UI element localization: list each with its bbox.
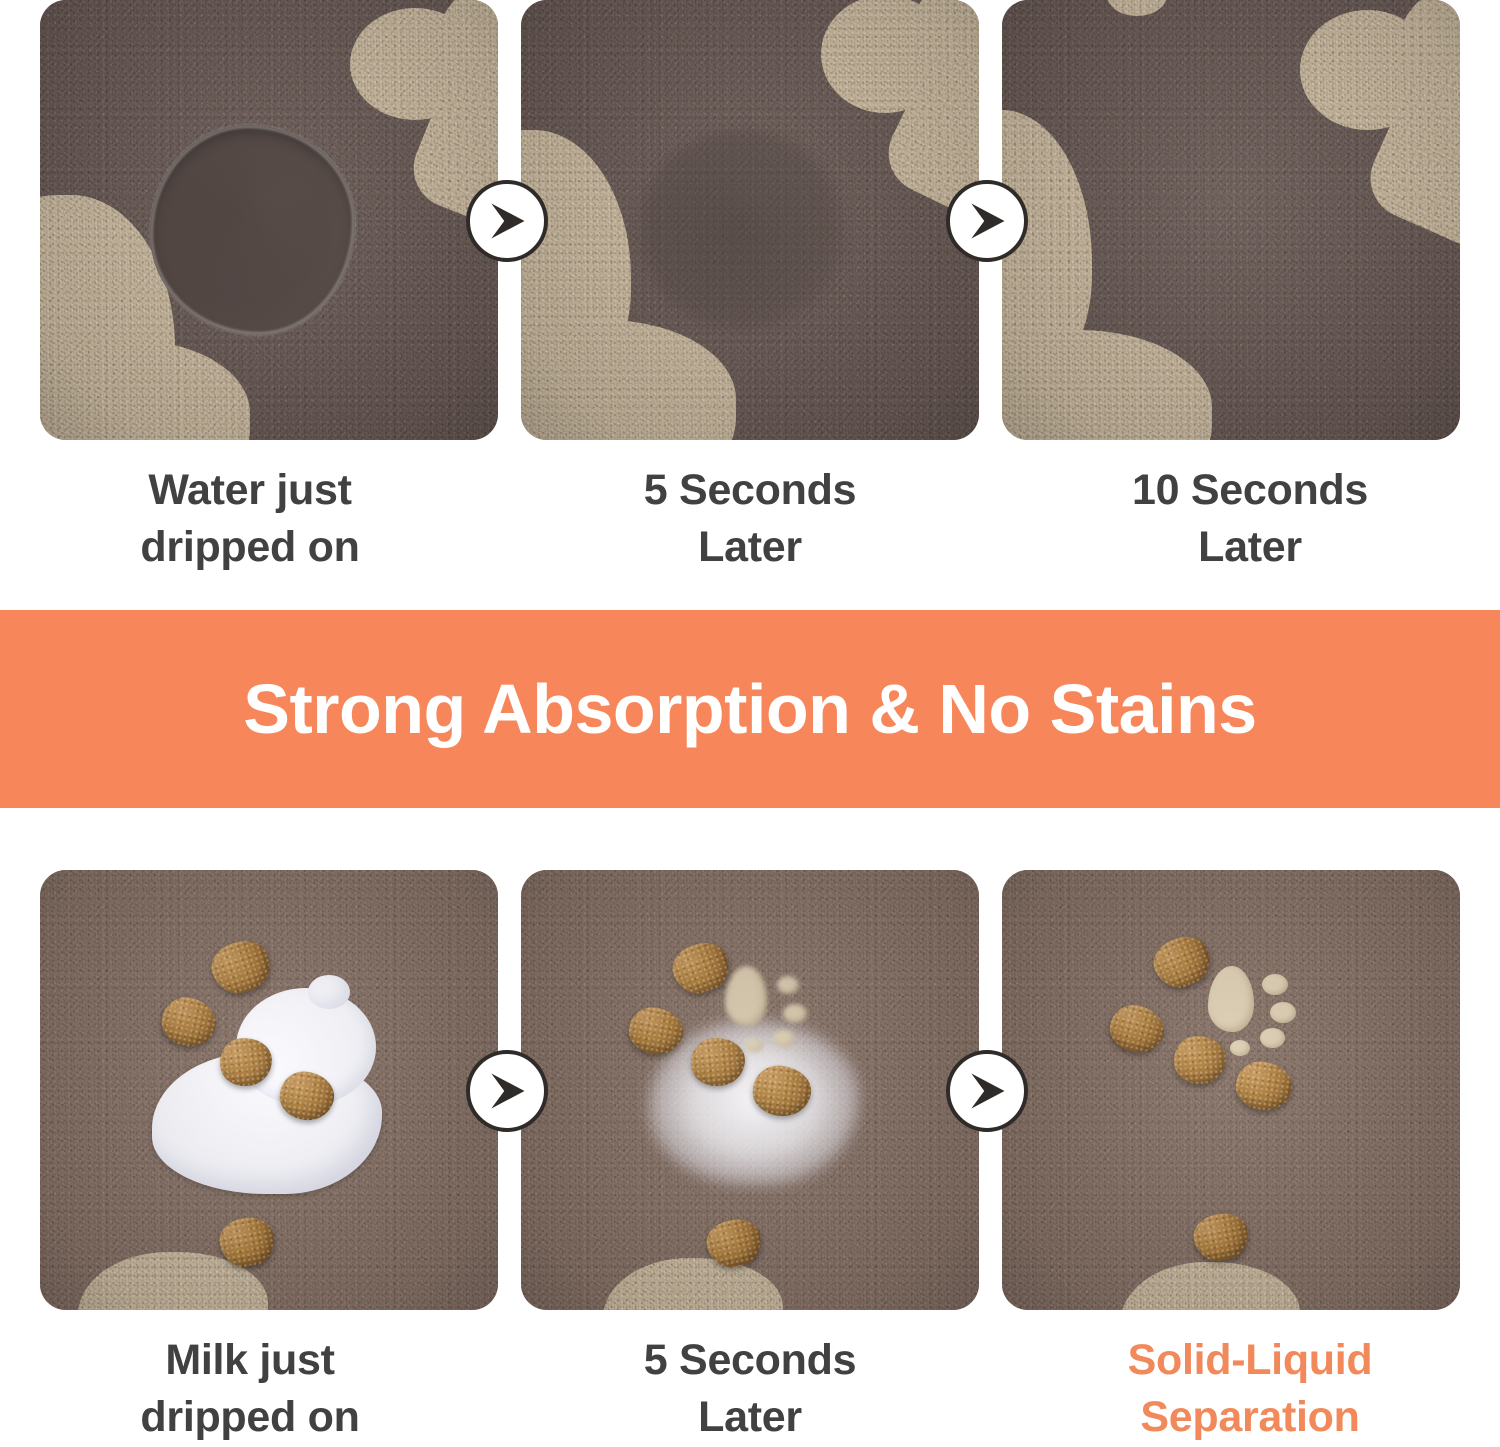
caption-milk-5s: 5 Seconds Later	[500, 1332, 1000, 1446]
caption-water-5s: 5 Seconds Later	[500, 462, 1000, 576]
arrow-badge-4	[946, 1050, 1028, 1132]
panel-vignette	[1002, 870, 1460, 1310]
arrow-badge-2	[946, 180, 1028, 262]
milk-sequence-row	[0, 870, 1500, 1310]
panel-vignette	[40, 0, 498, 440]
panel-vignette	[521, 0, 979, 440]
milk-captions-row: Milk just dripped on 5 Seconds Later Sol…	[0, 1332, 1500, 1446]
caption-line-2: Later	[500, 519, 1000, 576]
arrow-badge-3	[466, 1050, 548, 1132]
caption-line-2: Separation	[1000, 1389, 1500, 1446]
caption-line-1: 5 Seconds	[500, 1332, 1000, 1389]
photo-panel-water-fresh	[40, 0, 498, 440]
photo-panel-milk-absorbing	[521, 870, 979, 1310]
panel-vignette	[521, 870, 979, 1310]
panel-vignette	[40, 870, 498, 1310]
photo-panel-milk-absorbed	[1002, 870, 1460, 1310]
caption-line-2: dripped on	[0, 1389, 500, 1446]
play-arrow-right-icon	[484, 1068, 530, 1114]
photo-panel-milk-fresh	[40, 870, 498, 1310]
play-arrow-right-icon	[964, 1068, 1010, 1114]
water-sequence-row	[0, 0, 1500, 440]
caption-water-10s: 10 Seconds Later	[1000, 462, 1500, 576]
headline-banner: Strong Absorption & No Stains	[0, 610, 1500, 808]
play-arrow-right-icon	[964, 198, 1010, 244]
caption-milk-fresh: Milk just dripped on	[0, 1332, 500, 1446]
play-arrow-right-icon	[484, 198, 530, 244]
headline-text: Strong Absorption & No Stains	[243, 669, 1256, 749]
caption-line-2: dripped on	[0, 519, 500, 576]
photo-panel-water-fading	[521, 0, 979, 440]
panel-vignette	[1002, 0, 1460, 440]
caption-solid-liquid-separation: Solid-Liquid Separation	[1000, 1332, 1500, 1446]
caption-line-1: 10 Seconds	[1000, 462, 1500, 519]
photo-panel-water-dry	[1002, 0, 1460, 440]
caption-line-2: Later	[1000, 519, 1500, 576]
caption-line-1: Milk just	[0, 1332, 500, 1389]
caption-line-1: Solid-Liquid	[1000, 1332, 1500, 1389]
caption-line-1: Water just	[0, 462, 500, 519]
caption-water-fresh: Water just dripped on	[0, 462, 500, 576]
water-captions-row: Water just dripped on 5 Seconds Later 10…	[0, 462, 1500, 576]
caption-line-1: 5 Seconds	[500, 462, 1000, 519]
caption-line-2: Later	[500, 1389, 1000, 1446]
arrow-badge-1	[466, 180, 548, 262]
